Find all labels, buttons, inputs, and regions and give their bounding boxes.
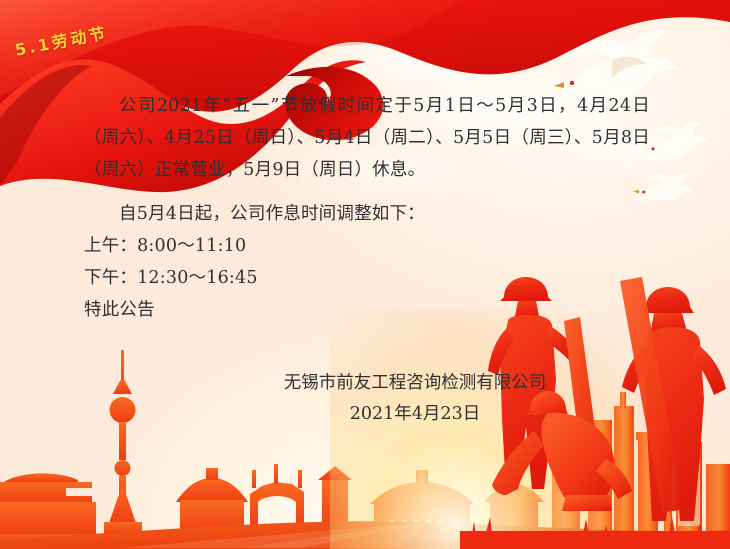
schedule-afternoon: 下午：12:30～16:45 <box>84 262 650 294</box>
paragraph-spacer <box>84 186 650 198</box>
notice-poster: 5.1劳动节 <box>0 0 730 549</box>
notice-content: 公司2021年“五一”节放假时间定于5月1日～5月3日，4月24日（周六）、4月… <box>0 0 730 549</box>
signature-block: 无锡市前友工程咨询检测有限公司 2021年4月23日 <box>200 368 630 430</box>
notice-paragraph-2: 自5月4日起，公司作息时间调整如下： <box>84 198 650 230</box>
signature-date: 2021年4月23日 <box>200 399 630 430</box>
schedule-morning: 上午：8:00～11:10 <box>84 230 650 262</box>
signature-company: 无锡市前友工程咨询检测有限公司 <box>200 368 630 399</box>
notice-paragraph-1: 公司2021年“五一”节放假时间定于5月1日～5月3日，4月24日（周六）、4月… <box>84 90 650 186</box>
notice-closing: 特此公告 <box>84 294 650 326</box>
notice-body: 公司2021年“五一”节放假时间定于5月1日～5月3日，4月24日（周六）、4月… <box>84 90 650 326</box>
